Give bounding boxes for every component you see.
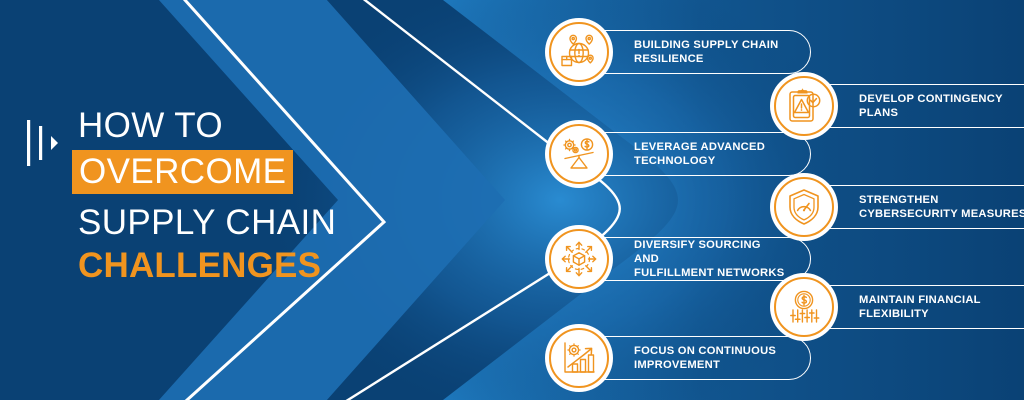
- infographic-banner: HOW TO OVERCOME SUPPLY CHAIN CHALLENGES …: [0, 0, 1024, 400]
- list-item[interactable]: DEVELOP CONTINGENCY PLANS: [770, 72, 1024, 140]
- list-item[interactable]: MAINTAIN FINANCIAL FLEXIBILITY: [770, 273, 1024, 341]
- item-label: BUILDING SUPPLY CHAIN RESILIENCE: [634, 38, 779, 67]
- clipboard-warning-check-icon: [770, 72, 838, 140]
- item-pill[interactable]: FOCUS ON CONTINUOUS IMPROVEMENT: [579, 336, 811, 380]
- item-label: MAINTAIN FINANCIAL FLEXIBILITY: [859, 293, 981, 322]
- item-label: FOCUS ON CONTINUOUS IMPROVEMENT: [634, 344, 776, 373]
- item-label: LEVERAGE ADVANCED TECHNOLOGY: [634, 140, 765, 169]
- list-item[interactable]: STRENGTHEN CYBERSECURITY MEASURES: [770, 173, 1024, 241]
- gears-dollar-balance-icon: [545, 120, 613, 188]
- item-label: DEVELOP CONTINGENCY PLANS: [859, 92, 1003, 121]
- growth-chart-gear-icon: [545, 324, 613, 392]
- items-list: BUILDING SUPPLY CHAIN RESILIENCE: [0, 0, 1024, 400]
- dollar-coin-sliders-icon: [770, 273, 838, 341]
- globe-location-pins-icon: [545, 18, 613, 86]
- box-network-arrows-icon: [545, 225, 613, 293]
- item-pill[interactable]: LEVERAGE ADVANCED TECHNOLOGY: [579, 132, 811, 176]
- item-pill[interactable]: BUILDING SUPPLY CHAIN RESILIENCE: [579, 30, 811, 74]
- shield-gauge-icon: [770, 173, 838, 241]
- item-label: STRENGTHEN CYBERSECURITY MEASURES: [859, 193, 1024, 222]
- item-label: DIVERSIFY SOURCING AND FULFILLMENT NETWO…: [634, 238, 788, 281]
